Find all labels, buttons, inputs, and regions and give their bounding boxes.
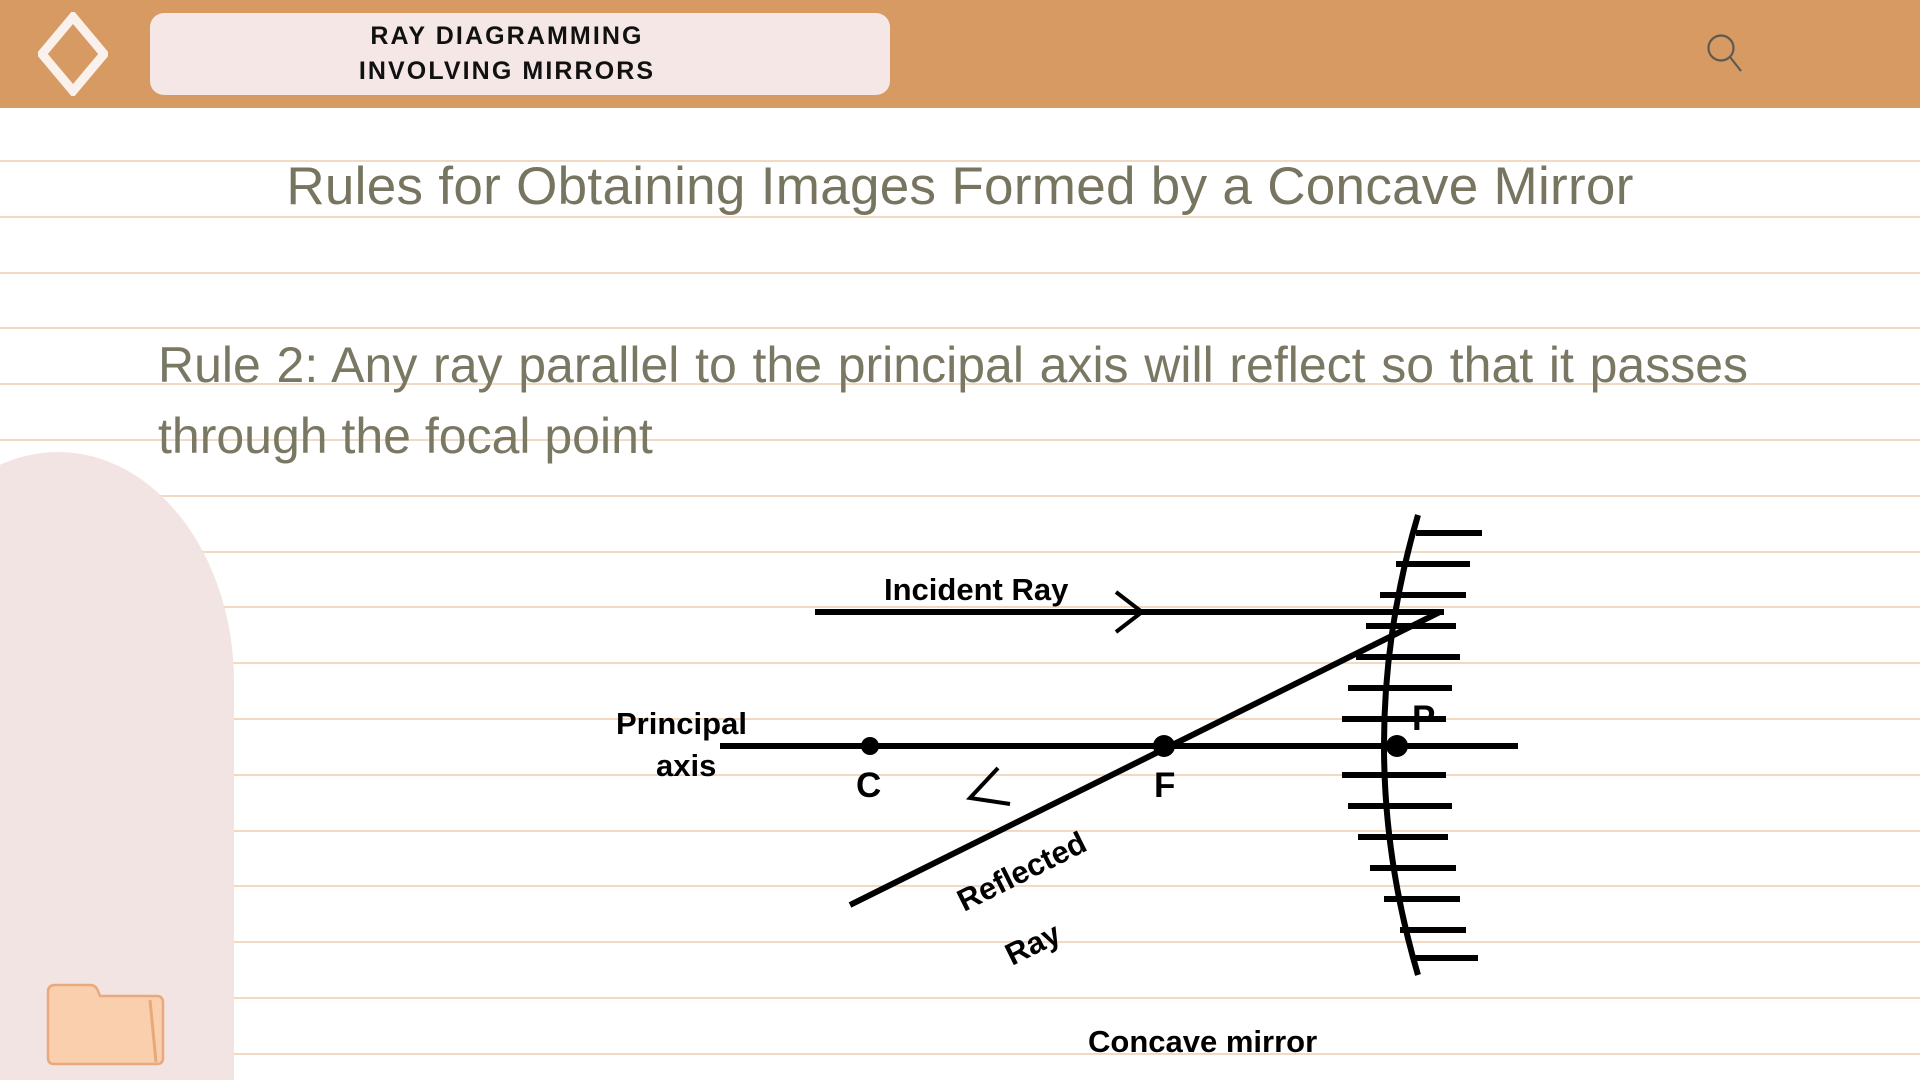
- concave-mirror-caption: Concave mirror: [1088, 1024, 1317, 1059]
- ray-diagram: Incident Ray Principal axis C F P Reflec…: [560, 480, 1880, 1080]
- rule-line: [0, 327, 1920, 329]
- incident-ray-label: Incident Ray: [884, 572, 1069, 607]
- page-title: Rules for Obtaining Images Formed by a C…: [0, 156, 1920, 217]
- point-F-label: F: [1154, 766, 1175, 805]
- rule-text: Rule 2: Any ray parallel to the principa…: [158, 330, 1748, 472]
- rule-line: [0, 272, 1920, 274]
- reflected-ray-arrowhead: [970, 768, 1010, 804]
- reflected-ray-line: [850, 612, 1440, 905]
- diamond-outline-icon[interactable]: [38, 12, 108, 96]
- point-P-marker: [1386, 735, 1408, 757]
- header-bar: RAY DIAGRAMMING INVOLVING MIRRORS: [0, 0, 1920, 108]
- principal-axis-label-line2: axis: [656, 748, 716, 783]
- principal-axis-label-line1: Principal: [616, 706, 747, 741]
- point-C-marker: [861, 737, 879, 755]
- point-C-label: C: [856, 766, 881, 805]
- reflected-ray-label-line1: Reflected: [952, 825, 1093, 919]
- point-F-marker: [1153, 735, 1175, 757]
- header-title: RAY DIAGRAMMING INVOLVING MIRRORS: [359, 19, 655, 90]
- reflected-ray-label-line2: Ray: [1000, 915, 1067, 972]
- search-icon[interactable]: [1704, 32, 1744, 74]
- folder-icon[interactable]: [46, 982, 166, 1066]
- header-title-pill: RAY DIAGRAMMING INVOLVING MIRRORS: [150, 13, 890, 95]
- point-P-label: P: [1412, 699, 1435, 738]
